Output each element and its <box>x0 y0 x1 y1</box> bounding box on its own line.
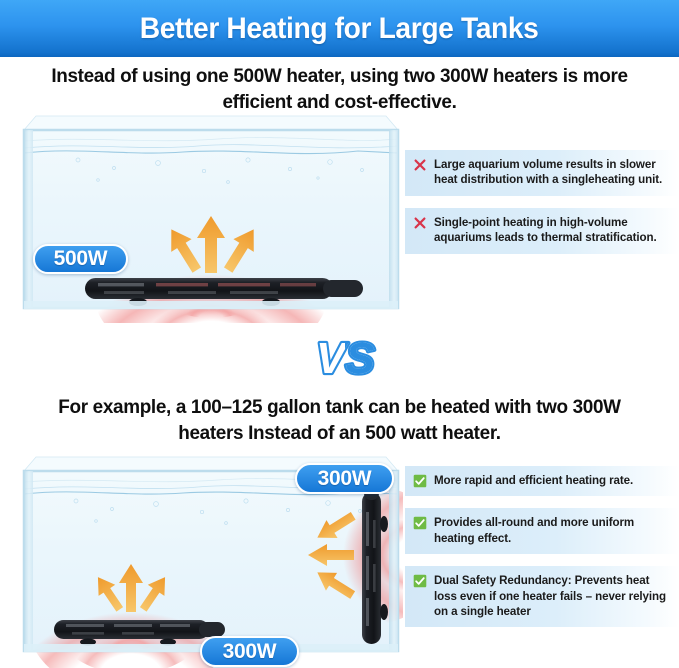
list-item-label: Dual Safety Redundancy: Prevents heat lo… <box>434 573 669 619</box>
cross-icon <box>413 158 427 172</box>
list-item-label: Large aquarium volume results in slower … <box>434 157 669 188</box>
list-item: Single-point heating in high-volume aqua… <box>405 208 679 254</box>
benefits-list: More rapid and efficient heating rate. P… <box>405 466 679 639</box>
vs-logo-icon: VS VS VS <box>312 327 384 389</box>
page-title: Better Heating for Large Tanks <box>140 12 539 46</box>
list-item: Dual Safety Redundancy: Prevents heat lo… <box>405 566 679 627</box>
page-header: Better Heating for Large Tanks <box>0 0 679 57</box>
list-item-label: More rapid and efficient heating rate. <box>434 473 633 488</box>
cross-icon <box>413 216 427 230</box>
list-item: Provides all-round and more uniform heat… <box>405 508 679 554</box>
drawbacks-list: Large aquarium volume results in slower … <box>405 150 679 266</box>
vs-badge: VS VS VS <box>312 327 384 389</box>
list-item: Large aquarium volume results in slower … <box>405 150 679 196</box>
list-item-label: Single-point heating in high-volume aqua… <box>434 215 669 246</box>
list-item: More rapid and efficient heating rate. <box>405 466 679 496</box>
wattage-badge-300w-top: 300W <box>295 463 394 494</box>
check-icon <box>413 574 427 588</box>
tank-illustration-500w <box>18 108 403 323</box>
example-statement: For example, a 100–125 gallon tank can b… <box>26 395 654 446</box>
list-item-label: Provides all-round and more uniform heat… <box>434 515 669 546</box>
wattage-badge-300w-bottom: 300W <box>200 636 299 667</box>
check-icon <box>413 474 427 488</box>
check-icon <box>413 516 427 530</box>
wattage-badge-500w: 500W <box>33 244 128 274</box>
aquarium-tank-500w <box>18 108 403 323</box>
